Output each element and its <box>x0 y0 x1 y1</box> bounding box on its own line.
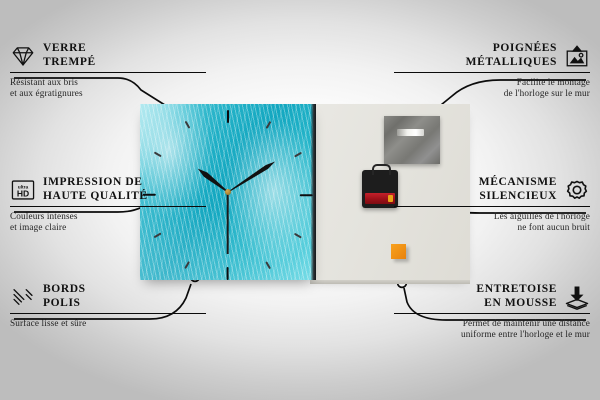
feature-poignees-metalliques: POIGNÉES MÉTALLIQUES Facilite le montage… <box>394 42 590 100</box>
feature-subtitle-line1: Couleurs intenses <box>10 211 206 222</box>
foam-spacer-icon <box>564 284 590 310</box>
feature-title-line2: POLIS <box>43 297 86 311</box>
feature-title: IMPRESSION DE HAUTE QUALITÉ <box>43 176 148 203</box>
feature-subtitle-line1: Permet de maintenir une distance <box>394 318 590 329</box>
feature-header: VERRE TREMPÉ <box>10 42 206 69</box>
feature-bords-polis: BORDS POLIS Surface lisse et sûre <box>10 283 206 329</box>
feature-subtitle-line2: uniforme entre l'horloge et le mur <box>394 329 590 340</box>
movement-hanging-loop <box>372 164 391 175</box>
feature-title-line1: VERRE <box>43 42 96 56</box>
feature-title-line2: TREMPÉ <box>43 56 96 70</box>
orange-foam-spacer <box>391 244 406 259</box>
feature-divider <box>10 72 206 73</box>
feature-mecanisme-silencieux: MÉCANISME SILENCIEUX Les aiguilles de l'… <box>394 176 590 234</box>
feature-header: ENTRETOISE EN MOUSSE <box>394 283 590 310</box>
battery-terminal <box>388 195 393 202</box>
hanger-slot <box>397 129 424 136</box>
polished-edges-icon <box>10 284 36 310</box>
feature-title-line1: BORDS <box>43 283 86 297</box>
feature-verre-trempe: VERRE TREMPÉ Résistant aux bris et aux é… <box>10 42 206 100</box>
ultra-hd-icon: ultra HD <box>10 177 36 203</box>
gear-icon <box>564 177 590 203</box>
feature-subtitle-line2: ne font aucun bruit <box>394 222 590 233</box>
feature-subtitle: Couleurs intenses et image claire <box>10 211 206 234</box>
feature-divider <box>394 206 590 207</box>
feature-title-line1: IMPRESSION DE <box>43 176 148 190</box>
feature-subtitle-line2: et aux égratignures <box>10 88 206 99</box>
feature-subtitle-line1: Surface lisse et sûre <box>10 318 206 329</box>
feature-subtitle-line1: Les aiguilles de l'horloge <box>394 211 590 222</box>
feature-subtitle-line1: Facilite le montage <box>394 77 590 88</box>
feature-subtitle: Surface lisse et sûre <box>10 318 206 329</box>
battery <box>365 193 395 204</box>
feature-title-line2: EN MOUSSE <box>476 297 557 311</box>
feature-title: POIGNÉES MÉTALLIQUES <box>466 42 557 69</box>
feature-title: ENTRETOISE EN MOUSSE <box>476 283 557 310</box>
glass-panel-edge <box>311 104 316 280</box>
feature-title-line2: MÉTALLIQUES <box>466 56 557 70</box>
feature-header: BORDS POLIS <box>10 283 206 310</box>
clock-second-hand <box>227 192 229 254</box>
infographic-canvas: VERRE TREMPÉ Résistant aux bris et aux é… <box>0 0 600 400</box>
metal-hanger-plate <box>384 116 440 164</box>
feature-subtitle: Permet de maintenir une distance uniform… <box>394 318 590 341</box>
feature-subtitle-line2: de l'horloge sur le mur <box>394 88 590 99</box>
feature-title-line1: MÉCANISME <box>479 176 557 190</box>
feature-header: POIGNÉES MÉTALLIQUES <box>394 42 590 69</box>
feature-title-line2: HAUTE QUALITÉ <box>43 190 148 204</box>
feature-title-line2: SILENCIEUX <box>479 190 557 204</box>
feature-entretoise-en-mousse: ENTRETOISE EN MOUSSE Permet de maintenir… <box>394 283 590 341</box>
feature-subtitle: Les aiguilles de l'horloge ne font aucun… <box>394 211 590 234</box>
feature-subtitle: Facilite le montage de l'horloge sur le … <box>394 77 590 100</box>
feature-subtitle: Résistant aux bris et aux égratignures <box>10 77 206 100</box>
feature-title-line1: ENTRETOISE <box>476 283 557 297</box>
feature-divider <box>394 72 590 73</box>
feature-title: VERRE TREMPÉ <box>43 42 96 69</box>
svg-text:HD: HD <box>17 188 29 198</box>
clock-movement-box <box>362 170 398 208</box>
diamond-icon <box>10 43 36 69</box>
feature-title: BORDS POLIS <box>43 283 86 310</box>
feature-header: MÉCANISME SILENCIEUX <box>394 176 590 203</box>
feature-divider <box>394 313 590 314</box>
feature-header: ultra HD IMPRESSION DE HAUTE QUALITÉ <box>10 176 206 203</box>
feature-title-line1: POIGNÉES <box>466 42 557 56</box>
feature-subtitle-line1: Résistant aux bris <box>10 77 206 88</box>
clock-center-hub <box>225 189 231 195</box>
feature-title: MÉCANISME SILENCIEUX <box>479 176 557 203</box>
feature-divider <box>10 206 206 207</box>
feature-impression-haute-qualite: ultra HD IMPRESSION DE HAUTE QUALITÉ Cou… <box>10 176 206 234</box>
feature-divider <box>10 313 206 314</box>
feature-subtitle-line2: et image claire <box>10 222 206 233</box>
picture-hanger-icon <box>564 43 590 69</box>
